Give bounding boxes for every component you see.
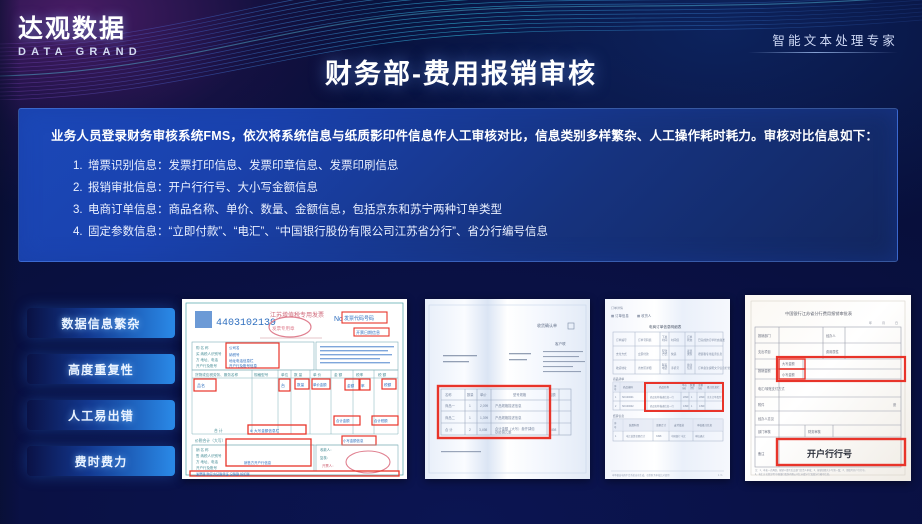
document-thumbnail-bank-form[interactable]: 中国银行江苏省分行费用报销审批表 年月日: [745, 295, 911, 481]
svg-text:日: 日: [895, 321, 898, 325]
svg-text:1 / 1: 1 / 1: [718, 475, 723, 477]
info-panel-lead: 业务人员登录财务审核系统FMS，依次将系统信息与纸质影印件信息作人工审核对比，信…: [51, 125, 879, 144]
svg-text:报销金额: 报销金额: [758, 368, 772, 373]
svg-text:年: 年: [869, 320, 872, 325]
svg-text:时间值: 时间值: [671, 338, 679, 342]
svg-text:税 额: 税 额: [378, 372, 387, 377]
svg-text:▦ 订单信息: ▦ 订单信息: [611, 313, 629, 318]
document-thumbnail-ecommerce-order[interactable]: 订单详情 ▦ 订单信息▦ 收货人 电商订单信息明细表 订单编: [605, 299, 730, 479]
svg-text:税额: 税额: [384, 382, 392, 387]
svg-text:合计税额: 合计税额: [374, 418, 388, 423]
svg-text:规格型号: 规格型号: [254, 372, 269, 377]
svg-text:订单详情: 订单详情: [611, 305, 623, 310]
svg-text:2099: 2099: [683, 396, 689, 399]
svg-text:支付渠道: 支付渠道: [674, 423, 685, 427]
svg-text:纳税号: 纳税号: [229, 352, 240, 357]
svg-text:(件): (件): [690, 386, 694, 390]
list-item-number: 4.: [73, 221, 88, 243]
svg-text:型号规格: 型号规格: [513, 392, 527, 397]
svg-text:合 计: 合 计: [445, 427, 453, 432]
svg-text:电商订单信息明细表: 电商订单信息明细表: [649, 324, 682, 329]
svg-text:售 纳税人识别号: 售 纳税人识别号: [196, 453, 222, 458]
list-item: 4.固定参数信息：“立即付款”、“电汇”、“中国银行股份有限公司江苏省分行”、省…: [73, 221, 879, 243]
svg-text:结算信息: 结算信息: [613, 414, 624, 418]
svg-text:支付方式: 支付方式: [616, 352, 627, 356]
svg-text:中国银行 电汇: 中国银行 电汇: [671, 434, 687, 438]
svg-text:地址电话信息栏: 地址电话信息栏: [229, 358, 254, 363]
list-item-number: 3.: [73, 199, 88, 221]
svg-text:商品名称描述信息一行: 商品名称描述信息一行: [650, 395, 675, 399]
list-item-number: 1.: [73, 155, 88, 177]
svg-text:备注: 备注: [758, 451, 765, 456]
svg-text:产品规格描述信息: 产品规格描述信息: [495, 415, 522, 420]
document-thumbnail-paper-order[interactable]: 收货确认单 客户联: [425, 299, 590, 479]
svg-text:发票专用章: 发票专用章: [272, 325, 295, 332]
svg-text:1399: 1399: [699, 405, 705, 408]
list-item: 2.报销审批信息：开户行行号、大小写金额信息: [73, 177, 879, 199]
svg-text:台: 台: [281, 382, 285, 388]
svg-text:⊗ 大写金额信息栏: ⊗ 大写金额信息栏: [250, 428, 280, 433]
svg-text:销 名 称: 销 名 称: [196, 447, 209, 452]
svg-text:已完成的订单状态描述: 已完成的订单状态描述: [698, 338, 725, 342]
svg-text:方 地址、电话: 方 地址、电话: [196, 357, 218, 362]
svg-text:1: 1: [469, 416, 471, 420]
svg-text:手机号: 手机号: [671, 366, 679, 370]
svg-text:京东订单类型: 京东订单类型: [707, 395, 722, 399]
brand-tagline: 智能文本处理专家: [772, 30, 898, 49]
chip-label: 费时费力: [75, 453, 128, 470]
svg-text:数 量: 数 量: [294, 372, 303, 377]
page-title: 财务部-费用报销审核: [0, 52, 922, 91]
chip-human-error[interactable]: 人工易出错: [27, 400, 175, 430]
svg-text:发票联 购买方记账凭证: 发票联 购买方记账凭证 记账联 抵扣联: [196, 472, 250, 477]
svg-text:2: 2: [469, 428, 471, 432]
svg-text:2099: 2099: [699, 396, 705, 399]
slide-root: 达观数据 DATA GRAND 智能文本处理专家 财务部-费用报销审核 业务人员…: [0, 0, 922, 524]
svg-text:收货确认单: 收货确认单: [537, 322, 557, 328]
svg-text:金额合计: 金额合计: [656, 423, 667, 427]
svg-text:税率: 税率: [356, 372, 364, 377]
svg-text:玖拾捌元整: 玖拾捌元整: [495, 430, 512, 435]
svg-text:销售方开户行信息: 销售方开户行信息: [244, 460, 272, 465]
svg-text:开票日期信息: 开票日期信息: [356, 329, 380, 335]
svg-text:部门审核: 部门审核: [758, 429, 772, 434]
svg-text:报销部门: 报销部门: [758, 333, 771, 338]
list-item-text: 增票识别信息：发票打印信息、发票印章信息、发票印刷信息: [88, 160, 399, 172]
svg-text:时间: 时间: [662, 338, 668, 342]
svg-text:结算科目: 结算科目: [629, 423, 640, 427]
svg-text:品名: 品名: [197, 382, 205, 388]
svg-text:月: 月: [882, 321, 885, 325]
brand-logo-cn: 达观数据: [18, 16, 142, 42]
bank-form-highlight-label: 开户行行号: [807, 448, 852, 459]
svg-text:增值税专用发票信息: 增值税专用发票信息: [698, 352, 722, 356]
svg-text:1399: 1399: [683, 405, 689, 408]
svg-text:产品规格描述信息: 产品规格描述信息: [495, 403, 522, 408]
svg-text:商品名称: 商品名称: [659, 385, 670, 389]
svg-text:4403102139: 4403102139: [216, 318, 276, 329]
svg-text:类型: 类型: [687, 352, 693, 356]
svg-text:立即付款: 立即付款: [638, 352, 649, 356]
list-item-text: 固定参数信息：“立即付款”、“电汇”、“中国银行股份有限公司江苏省分行”、省分行…: [88, 226, 548, 238]
svg-text:收款人：: 收款人：: [320, 447, 334, 452]
svg-text:名称: 名称: [445, 392, 452, 397]
svg-text:公司名: 公司名: [229, 345, 240, 350]
svg-text:开户行及账号信息: 开户行及账号信息: [229, 363, 257, 368]
svg-text:商品一: 商品一: [445, 403, 456, 408]
svg-text:快递: 快递: [671, 352, 677, 356]
svg-text:支出项目: 支出项目: [758, 349, 771, 354]
document-thumbnail-invoice[interactable]: 4403102139 江苏增值税专用发票 发票专用章 No 发票代码号码 开票日…: [182, 299, 407, 479]
chip-label: 数据信息繁杂: [61, 315, 140, 332]
svg-text:商品清单: 商品清单: [613, 377, 624, 381]
svg-text:费用属性: 费用属性: [826, 349, 840, 354]
list-item-number: 2.: [73, 177, 88, 199]
svg-text:3,498: 3,498: [479, 428, 487, 432]
svg-text:订单号码值: 订单号码值: [638, 338, 652, 342]
svg-text:SKU00001: SKU00001: [622, 396, 634, 399]
svg-text:开户行及账号: 开户行及账号: [196, 465, 217, 470]
svg-text:发票代码号码: 发票代码号码: [344, 315, 374, 322]
svg-text:财务审核: 财务审核: [808, 429, 822, 434]
svg-text:单价: 单价: [480, 392, 487, 397]
svg-text:价税合计（大写）: 价税合计（大写）: [195, 438, 225, 443]
ecommerce-order-image: 订单详情 ▦ 订单信息▦ 收货人 电商订单信息明细表 订单编: [605, 299, 730, 479]
chip-label: 高度重复性: [68, 361, 134, 378]
list-item: 3.电商订单信息：商品名称、单价、数量、金额信息，包括京东和苏宁两种订单类型: [73, 199, 879, 221]
svg-text:率: 率: [361, 383, 365, 388]
svg-text:金 额: 金 额: [334, 372, 343, 377]
svg-text:方式: 方式: [662, 352, 668, 356]
invoice-scan-image: 4403102139 江苏增值税专用发票 发票专用章 No 发票代码号码 开票日…: [182, 299, 407, 479]
svg-text:单 价: 单 价: [313, 372, 322, 377]
info-panel-list: 1.增票识别信息：发票打印信息、发票印章信息、发票印刷信息 2.报销审批信息：开…: [73, 155, 879, 243]
svg-text:方 地址、电话: 方 地址、电话: [196, 459, 218, 464]
document-thumbnail-row: 4403102139 江苏增值税专用发票 发票专用章 No 发票代码号码 开票日…: [182, 299, 912, 479]
svg-text:电汇/转账支付方式: 电汇/转账支付方式: [758, 386, 785, 391]
svg-text:单价金额: 单价金额: [313, 382, 327, 387]
svg-text:客户联: 客户联: [555, 341, 566, 346]
chip-time-consuming[interactable]: 费时费力: [27, 446, 175, 476]
svg-text:(元): (元): [698, 387, 702, 390]
svg-text:3498: 3498: [656, 435, 662, 438]
bank-form-image: 中国银行江苏省分行费用报销审批表 年月日: [745, 295, 911, 481]
svg-text:收货地址: 收货地址: [616, 366, 627, 370]
svg-text:小写金额信息: 小写金额信息: [343, 438, 364, 443]
info-panel: 业务人员登录财务审核系统FMS，依次将系统信息与纸质影印件信息作人工审核对比，信…: [18, 108, 898, 262]
list-item: 1.增票识别信息：发票打印信息、发票印章信息、发票印刷信息: [73, 155, 879, 177]
svg-text:经办人意见: 经办人意见: [758, 416, 775, 421]
svg-text:金额: 金额: [347, 383, 355, 388]
svg-text:电汇结算金额合计: 电汇结算金额合计: [626, 434, 646, 438]
svg-text:审核通过: 审核通过: [695, 434, 705, 438]
svg-text:信息: 信息: [687, 366, 693, 370]
chip-data-complexity[interactable]: 数据信息繁杂: [27, 308, 175, 338]
pain-point-chip-list: 数据信息繁杂 高度重复性 人工易出错 费时费力: [27, 308, 175, 492]
svg-text:合计金额: 合计金额: [336, 418, 350, 423]
svg-text:备注信息栏: 备注信息栏: [707, 385, 720, 389]
svg-text:▦ 收货人: ▦ 收货人: [637, 313, 652, 318]
svg-text:SKU00002: SKU00002: [622, 405, 634, 408]
svg-text:中国银行江苏省分行费用报销审批表: 中国银行江苏省分行费用报销审批表: [785, 310, 853, 317]
svg-text:小写金额: 小写金额: [782, 372, 796, 377]
svg-text:订单编号: 订单编号: [616, 338, 627, 342]
svg-text:审核备注信息: 审核备注信息: [697, 423, 713, 427]
svg-text:买 纳税人识别号: 买 纳税人识别号: [196, 351, 222, 356]
svg-text:1: 1: [469, 404, 471, 408]
svg-text:商品编码: 商品编码: [623, 385, 634, 389]
svg-text:货物或应税劳务、服务名称: 货物或应税劳务、服务名称: [195, 372, 239, 377]
svg-text:省市区详细: 省市区详细: [638, 366, 652, 370]
svg-text:购 名 称: 购 名 称: [196, 345, 209, 350]
svg-text:经办人: 经办人: [826, 333, 836, 338]
svg-text:单位: 单位: [281, 372, 289, 377]
svg-text:商品名称描述信息一行: 商品名称描述信息一行: [650, 404, 675, 408]
svg-text:订单备注说明文字信息栏位: 订单备注说明文字信息栏位: [698, 366, 730, 370]
svg-text:大写金额: 大写金额: [782, 361, 796, 366]
svg-text:开户行及账号: 开户行及账号: [196, 363, 217, 368]
svg-text:数量: 数量: [467, 392, 474, 397]
svg-text:1,399: 1,399: [480, 416, 488, 420]
svg-text:2,099: 2,099: [480, 404, 488, 408]
paper-order-scan-image: 收货确认单 客户联: [425, 299, 590, 479]
svg-text:数量: 数量: [297, 382, 305, 387]
svg-text:开票人：: 开票人：: [322, 463, 336, 468]
chip-high-repetition[interactable]: 高度重复性: [27, 354, 175, 384]
svg-text:(元): (元): [682, 387, 686, 390]
list-item-text: 报销审批信息：开户行行号、大小写金额信息: [88, 182, 318, 194]
chip-label: 人工易出错: [68, 407, 134, 424]
list-item-text: 电商订单信息：商品名称、单价、数量、金额信息，包括京东和苏宁两种订单类型: [88, 204, 502, 216]
svg-text:复核：: 复核：: [320, 455, 330, 460]
svg-text:合 计: 合 计: [214, 428, 223, 433]
svg-text:商品二: 商品二: [445, 415, 456, 420]
svg-text:附件: 附件: [758, 402, 765, 407]
svg-text:状态: 状态: [687, 338, 693, 342]
svg-text:电话: 电话: [662, 366, 668, 370]
